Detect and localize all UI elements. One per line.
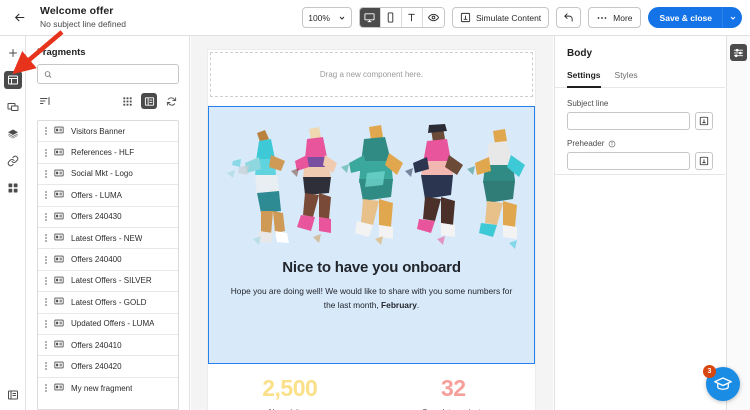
list-item-label: Latest Offers - SILVER: [71, 276, 152, 285]
fragment-icon: [54, 275, 64, 285]
drag-handle-icon[interactable]: [45, 213, 47, 221]
preheader-field-group: Preheader: [567, 139, 713, 170]
eye-icon: [428, 12, 439, 23]
save-group: Save & close: [648, 7, 742, 28]
app-root: Welcome offer No subject line defined 10…: [0, 0, 750, 410]
fragments-panel-title: Fragments: [27, 36, 189, 64]
content-icon: [7, 389, 19, 401]
drag-handle-icon[interactable]: [45, 127, 47, 135]
undo-button[interactable]: [556, 7, 581, 28]
drag-handle-icon[interactable]: [45, 277, 47, 285]
desktop-icon: [364, 12, 375, 23]
info-icon[interactable]: [608, 140, 616, 148]
list-item[interactable]: Latest Offers - GOLD: [38, 292, 178, 313]
hero-copy: Nice to have you onboard Hope you are do…: [209, 259, 534, 312]
hero-paragraph-text: Hope you are doing well! We would like t…: [231, 286, 512, 310]
properties-panel-title: Body: [555, 36, 725, 59]
hero-paragraph-end: .: [417, 300, 419, 310]
email-page: Drag a new component here.: [208, 50, 535, 410]
list-item[interactable]: Social Mkt - Logo: [38, 164, 178, 185]
runners-illustration: [209, 115, 534, 255]
fragment-icon-wrap: [54, 122, 64, 140]
assets-icon: [7, 101, 19, 113]
subject-line-label: Subject line: [567, 99, 713, 108]
list-item-label: Social Mkt - Logo: [71, 169, 133, 178]
preheader-personalization-button[interactable]: [695, 152, 713, 170]
left-rail: [0, 36, 26, 410]
sidebar-item-links[interactable]: [4, 152, 22, 170]
sort-icon: [39, 95, 51, 107]
hero-heading: Nice to have you onboard: [227, 259, 516, 276]
zoom-select[interactable]: 100%: [302, 7, 352, 28]
list-item-label: Offers 240430: [71, 212, 122, 221]
text-preview-button[interactable]: [402, 8, 423, 27]
list-item[interactable]: Updated Offers - LUMA: [38, 314, 178, 335]
list-view-icon: [144, 96, 155, 107]
grid-view-icon: [122, 96, 133, 107]
fragment-icon: [54, 339, 64, 349]
list-item-label: Latest Offers - GOLD: [71, 298, 146, 307]
list-item-label: Latest Offers - NEW: [71, 234, 142, 243]
fragments-list[interactable]: Visitors Banner References - HLF Social …: [37, 120, 179, 410]
hero-paragraph: Hope you are doing well! We would like t…: [227, 285, 516, 312]
fragment-icon: [54, 232, 64, 242]
personalization-icon: [699, 156, 709, 166]
stats-row: 2,500 New visitors 32 Complete projects: [208, 364, 535, 410]
left-rail-bottom: [0, 386, 26, 404]
help-badge: 3: [703, 365, 716, 378]
refresh-button[interactable]: [163, 93, 179, 109]
runners-svg: [209, 115, 535, 255]
layers-icon: [7, 128, 19, 140]
properties-panel: Body Settings Styles Subject line: [554, 36, 725, 410]
fragment-icon-wrap: [54, 293, 64, 311]
list-item[interactable]: Visitors Banner: [38, 121, 178, 142]
right-edge-rail: [726, 36, 750, 410]
page-title: Welcome offer: [40, 5, 126, 18]
drag-handle-icon[interactable]: [45, 256, 47, 264]
sort-button[interactable]: [37, 93, 53, 109]
list-view-button[interactable]: [141, 93, 157, 109]
top-bar: Welcome offer No subject line defined 10…: [0, 0, 750, 36]
fragments-toolbar: [27, 84, 189, 116]
hero-block[interactable]: Nice to have you onboard Hope you are do…: [208, 106, 535, 364]
list-item[interactable]: Latest Offers - NEW: [38, 228, 178, 249]
stat-value: 32: [372, 375, 536, 402]
ellipsis-icon: [596, 12, 608, 24]
preheader-row: [567, 152, 713, 170]
fragment-icon-wrap: [54, 208, 64, 226]
personalization-icon: [699, 116, 709, 126]
list-item[interactable]: Offers 240430: [38, 207, 178, 228]
fragment-icon: [54, 189, 64, 199]
subject-line-status: No subject line defined: [40, 18, 126, 30]
text-icon: [406, 12, 417, 23]
fragment-icon-wrap: [54, 229, 64, 247]
subject-line-row: [567, 112, 713, 130]
drag-handle-icon[interactable]: [45, 298, 47, 306]
fragment-icon: [54, 147, 64, 157]
drag-handle-icon[interactable]: [45, 320, 47, 328]
properties-tabs: Settings Styles: [555, 59, 725, 88]
document-title-block: Welcome offer No subject line defined: [40, 5, 126, 30]
fragment-icon: [54, 125, 64, 135]
fragment-icon: [54, 168, 64, 178]
chevron-down-icon: [729, 14, 737, 22]
tab-settings[interactable]: Settings: [567, 70, 601, 88]
sidebar-item-assets[interactable]: [4, 98, 22, 116]
arrow-left-icon: [13, 11, 26, 24]
subject-line-personalization-button[interactable]: [695, 112, 713, 130]
refresh-icon: [166, 96, 177, 107]
preheader-input[interactable]: [567, 152, 690, 170]
email-canvas[interactable]: Drag a new component here.: [191, 36, 553, 410]
simulate-content-label: Simulate Content: [476, 13, 541, 23]
sidebar-item-add[interactable]: [4, 44, 22, 62]
list-item[interactable]: Offers 240410: [38, 335, 178, 356]
more-button[interactable]: More: [588, 7, 640, 28]
drag-handle-icon[interactable]: [45, 341, 47, 349]
toolbar: 100%: [302, 7, 750, 28]
list-item[interactable]: Offers 240420: [38, 356, 178, 377]
device-preview-group: [359, 7, 445, 28]
component-dropzone[interactable]: Drag a new component here.: [210, 52, 533, 97]
save-dropdown-button[interactable]: [722, 7, 742, 28]
list-item-label: Offers 240400: [71, 255, 122, 264]
fragment-icon-wrap: [54, 315, 64, 333]
device-mobile-button[interactable]: [381, 8, 402, 27]
fragments-search-box[interactable]: [37, 64, 179, 84]
panel-divider: [555, 174, 725, 175]
fragment-icon-wrap: [54, 165, 64, 183]
sidebar-item-components[interactable]: [4, 179, 22, 197]
back-button[interactable]: [4, 3, 34, 33]
list-item[interactable]: Latest Offers - SILVER: [38, 271, 178, 292]
sidebar-item-fragments[interactable]: [4, 71, 22, 89]
fragment-icon-wrap: [54, 186, 64, 204]
fragment-icon: [54, 296, 64, 306]
graduation-cap-icon: [714, 375, 732, 393]
settings-sliders-icon: [733, 47, 744, 58]
fragment-icon-wrap: [54, 336, 64, 354]
fragment-icon: [54, 211, 64, 221]
preheader-label-text: Preheader: [567, 139, 604, 148]
settings-panel-toggle[interactable]: [730, 44, 747, 61]
tab-styles[interactable]: Styles: [615, 70, 638, 88]
stat-card: 2,500 New visitors: [208, 375, 372, 410]
simulate-icon: [460, 12, 471, 23]
fragment-icon-wrap: [54, 144, 64, 162]
fragment-icon-wrap: [54, 251, 64, 269]
sidebar-item-layers[interactable]: [4, 125, 22, 143]
fragment-icon: [54, 360, 64, 370]
drag-handle-icon[interactable]: [45, 234, 47, 242]
list-item-label: Updated Offers - LUMA: [71, 319, 154, 328]
list-item-label: Offers - LUMA: [71, 191, 122, 200]
fragment-icon-wrap: [54, 272, 64, 290]
drag-handle-icon[interactable]: [45, 384, 47, 392]
more-label: More: [613, 13, 632, 23]
fragment-icon-wrap: [54, 357, 64, 375]
simulate-content-button[interactable]: Simulate Content: [452, 7, 549, 28]
fragments-panel: Fragments: [27, 36, 190, 410]
fragment-icon: [54, 254, 64, 264]
list-item-label: Offers 240420: [71, 362, 122, 371]
search-icon: [44, 70, 52, 79]
undo-icon: [563, 12, 574, 23]
list-item[interactable]: Offers 240400: [38, 249, 178, 270]
search-input[interactable]: [57, 69, 172, 79]
list-item-label: Offers 240410: [71, 341, 122, 350]
preheader-label: Preheader: [567, 139, 713, 148]
list-item[interactable]: Offers - LUMA: [38, 185, 178, 206]
subject-line-field-group: Subject line: [567, 99, 713, 130]
fragments-icon: [7, 74, 19, 86]
dropzone-label: Drag a new component here.: [320, 70, 423, 79]
list-item[interactable]: My new fragment: [38, 378, 178, 399]
list-item-label: Visitors Banner: [71, 127, 125, 136]
view-controls: [119, 93, 179, 109]
chevron-down-icon: [338, 14, 346, 22]
device-desktop-button[interactable]: [360, 8, 381, 27]
plus-icon: [7, 47, 19, 59]
zoom-value: 100%: [308, 13, 330, 23]
grid-icon: [7, 182, 19, 194]
drag-handle-icon[interactable]: [45, 170, 47, 178]
settings-form: Subject line Preheader: [555, 88, 725, 170]
fragment-icon: [54, 318, 64, 328]
fragment-icon-wrap: [54, 379, 64, 397]
link-icon: [7, 155, 19, 167]
stat-value: 2,500: [208, 375, 372, 402]
list-item-label: My new fragment: [71, 384, 132, 393]
hero-paragraph-bold: February: [381, 300, 417, 310]
list-item[interactable]: References - HLF: [38, 142, 178, 163]
drag-handle-icon[interactable]: [45, 149, 47, 157]
fragment-icon: [54, 382, 64, 392]
subject-line-label-text: Subject line: [567, 99, 608, 108]
subject-line-input[interactable]: [567, 112, 690, 130]
save-and-close-button[interactable]: Save & close: [648, 7, 722, 28]
preview-eye-button[interactable]: [423, 8, 444, 27]
sidebar-item-content[interactable]: [4, 386, 22, 404]
grid-view-button[interactable]: [119, 93, 135, 109]
mobile-icon: [385, 12, 396, 23]
drag-handle-icon[interactable]: [45, 362, 47, 370]
list-item-label: References - HLF: [71, 148, 134, 157]
drag-handle-icon[interactable]: [45, 191, 47, 199]
stat-card: 32 Complete projects: [372, 375, 536, 410]
